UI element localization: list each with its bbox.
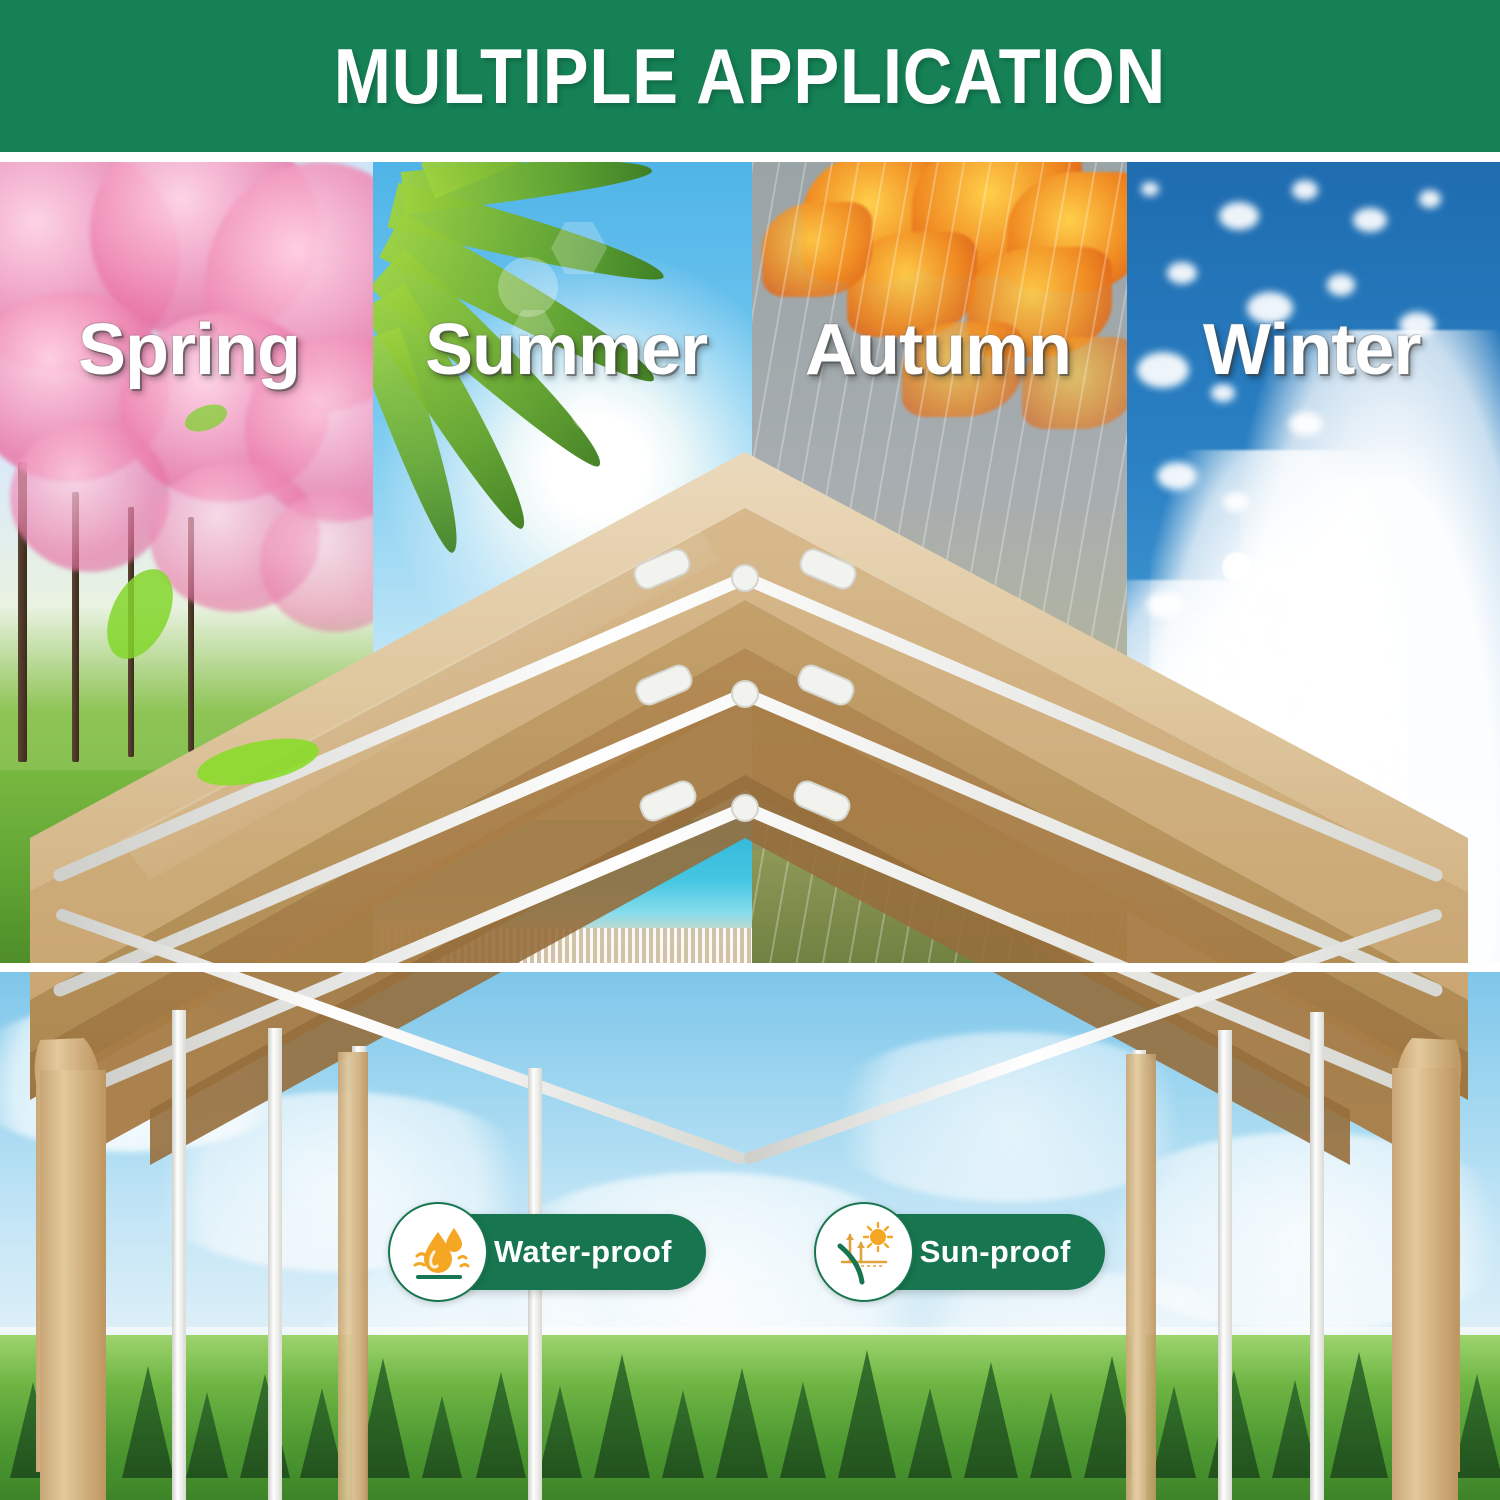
- sun-rays-icon: [830, 1218, 898, 1286]
- season-panel-autumn: Autumn: [752, 162, 1127, 970]
- snowflake: [1292, 180, 1318, 200]
- sun-proof-icon-circle: [814, 1202, 914, 1302]
- season-label-spring: Spring: [78, 309, 300, 391]
- badge-sun-proof[interactable]: Sun-proof: [824, 1212, 1105, 1292]
- snowflake: [1327, 722, 1353, 742]
- scene-divider: [0, 963, 1500, 972]
- frosted-tree: [1127, 690, 1230, 970]
- snowflake: [1167, 262, 1197, 284]
- season-panel-summer: Summer: [373, 162, 752, 970]
- snowflake: [1222, 552, 1252, 582]
- snowflake: [1353, 208, 1387, 232]
- badge-water-proof[interactable]: Water-proof: [398, 1212, 706, 1292]
- season-panel-spring: Spring: [0, 162, 373, 970]
- season-label-autumn: Autumn: [805, 309, 1071, 391]
- snowflake: [1187, 682, 1231, 712]
- season-label-summer: Summer: [425, 309, 707, 391]
- snowflake: [1223, 492, 1249, 512]
- snowflake: [1219, 202, 1259, 230]
- cherry-blossom: [10, 422, 170, 572]
- page-title: MULTIPLE APPLICATION: [334, 37, 1166, 115]
- water-drop-icon: [404, 1218, 472, 1286]
- season-band: Spring Summer: [0, 162, 1500, 970]
- snowflake: [1327, 274, 1355, 296]
- feature-badges: Water-proof Sun-proof: [398, 1199, 1118, 1304]
- snowflake: [1157, 462, 1197, 490]
- snowflake: [1419, 190, 1441, 208]
- season-panel-winter: Winter: [1127, 162, 1500, 970]
- season-label-winter: Winter: [1203, 309, 1420, 391]
- header-banner: MULTIPLE APPLICATION: [0, 0, 1500, 152]
- water-proof-icon-circle: [388, 1202, 488, 1302]
- snowflake: [1137, 352, 1189, 388]
- snowflake: [1245, 772, 1277, 796]
- snowflake: [1289, 412, 1323, 436]
- product-marketing-image: MULTIPLE APPLICATION Spring: [0, 0, 1500, 1500]
- rain-overlay: [752, 162, 1127, 970]
- water-proof-label: Water-proof: [494, 1234, 672, 1270]
- sun-proof-label: Sun-proof: [920, 1234, 1071, 1270]
- banner-gap-divider: [0, 152, 1500, 162]
- lens-flare: [498, 257, 558, 317]
- lens-flare: [571, 392, 611, 432]
- snowflake: [1141, 182, 1159, 196]
- snowflake: [1147, 592, 1183, 618]
- spring-grass: [0, 770, 373, 970]
- snowflake: [1277, 617, 1299, 635]
